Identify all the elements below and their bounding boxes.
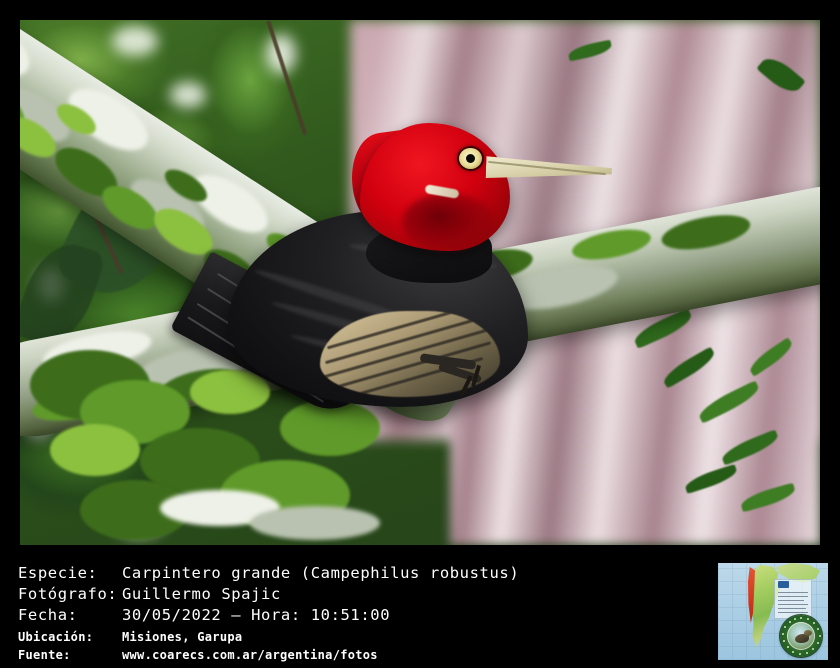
screenshot-root: Especie: Carpintero grande (Campephilus … <box>0 0 840 668</box>
photo-frame <box>20 20 820 545</box>
caption-panel: Especie: Carpintero grande (Campephilus … <box>0 548 840 668</box>
caption-label-fecha: Fecha: <box>18 606 122 624</box>
caption-row-fuente: Fuente: www.coarecs.com.ar/argentina/fot… <box>18 648 378 662</box>
coarecs-emblem <box>780 615 822 657</box>
caption-label-fuente: Fuente: <box>18 648 122 662</box>
emblem-bird-head-icon <box>804 630 812 636</box>
caption-row-fotografo: Fotógrafo: Guillermo Spajic <box>18 585 281 603</box>
caption-value-ubicacion: Misiones, Garupa <box>122 630 242 644</box>
caption-value-especie: Carpintero grande (Campephilus robustus) <box>122 564 519 582</box>
woodpecker <box>170 115 590 515</box>
caption-row-ubicacion: Ubicación: Misiones, Garupa <box>18 630 242 644</box>
sky-gap <box>112 26 158 56</box>
emblem-photo-inset <box>787 622 815 650</box>
bird-pupil <box>466 154 475 163</box>
caption-value-fecha: 30/05/2022 — Hora: 10:51:00 <box>122 606 390 624</box>
wildlife-photograph <box>20 20 820 545</box>
caption-label-fotografo: Fotógrafo: <box>18 585 122 603</box>
caption-row-especie: Especie: Carpintero grande (Campephilus … <box>18 564 519 582</box>
caption-row-fecha: Fecha: 30/05/2022 — Hora: 10:51:00 <box>18 606 390 624</box>
caption-value-fuente: www.coarecs.com.ar/argentina/fotos <box>122 648 378 662</box>
bird-head-shadow <box>402 193 494 251</box>
caption-label-especie: Especie: <box>18 564 122 582</box>
argentina-location-map <box>718 563 828 660</box>
caption-value-fotografo: Guillermo Spajic <box>122 585 281 603</box>
caption-label-ubicacion: Ubicación: <box>18 630 122 644</box>
bird-foot <box>420 353 494 399</box>
map-legend-icon <box>778 581 789 588</box>
sky-gap <box>170 82 206 108</box>
